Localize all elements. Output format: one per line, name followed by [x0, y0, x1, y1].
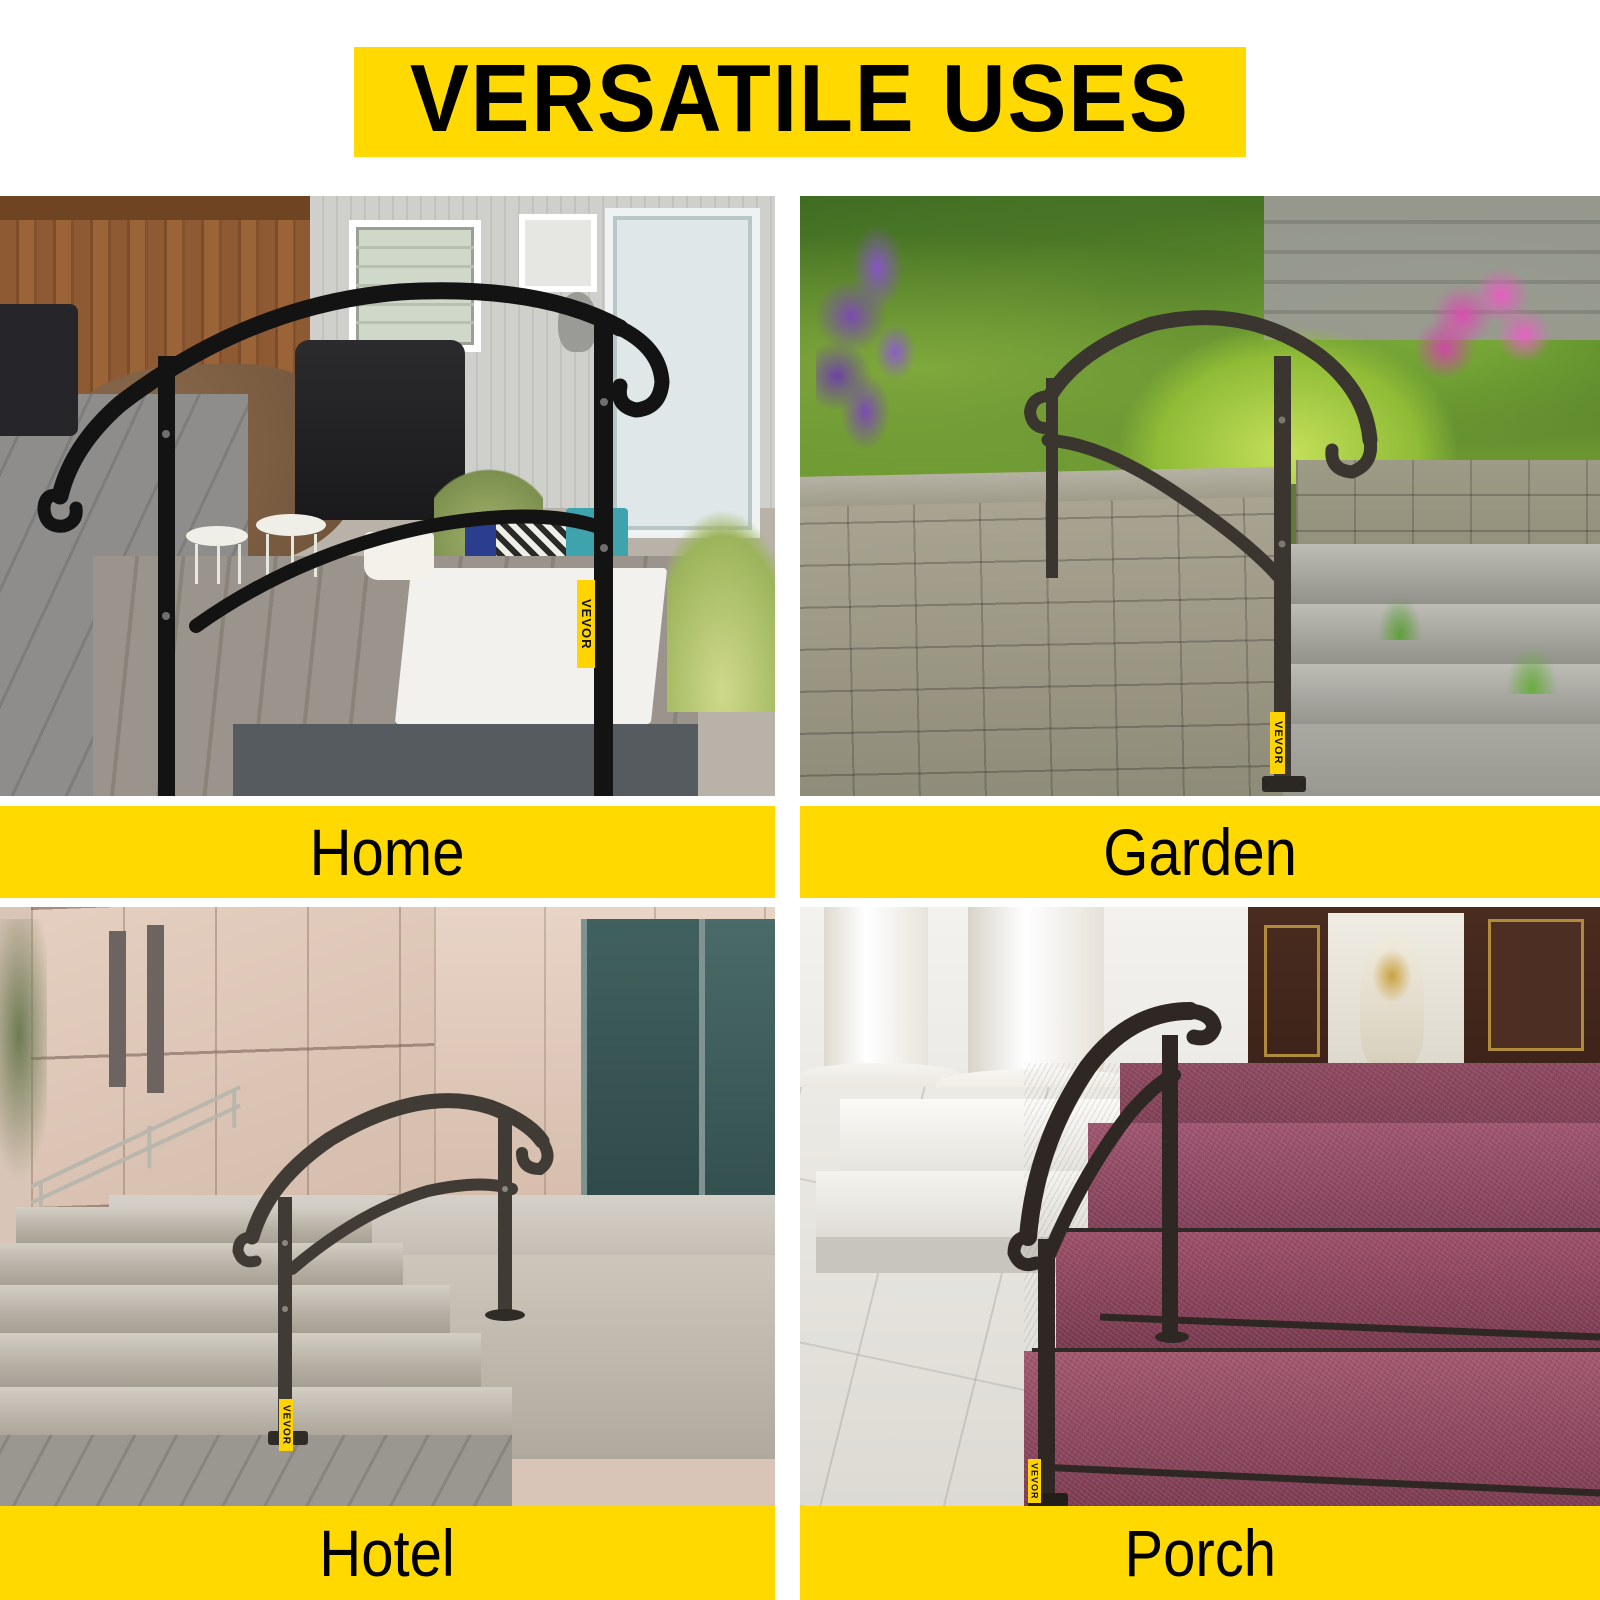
gutter-bottom: [775, 898, 800, 1600]
caption-hotel-label: Hotel: [320, 1520, 456, 1586]
carpet-texture: [1024, 1063, 1600, 1507]
door-gold-panel: [1488, 919, 1584, 1051]
stone-retaining-wall: [800, 497, 1283, 796]
panel-hotel: VEVOR Hotel: [0, 898, 775, 1600]
photo-home: VEVOR: [0, 196, 775, 796]
hotel-step: [0, 1333, 481, 1393]
caption-hotel: Hotel: [0, 1506, 775, 1600]
panel-home: VEVOR Home: [0, 196, 775, 898]
panel-porch: VEVOR Porch: [800, 898, 1600, 1600]
caption-home: Home: [0, 806, 775, 898]
ornamental-grass-right: [667, 508, 776, 712]
deck-riser: [233, 724, 698, 796]
facade-window-slot: [147, 925, 164, 1093]
caption-porch: Porch: [800, 1506, 1600, 1600]
door-gold-panel: [1264, 925, 1320, 1057]
title-banner: VERSATILE USES: [354, 47, 1246, 157]
hotel-glass-door-right: [705, 919, 775, 1201]
house-window-large: [349, 220, 481, 352]
page-title: VERSATILE USES: [410, 51, 1190, 147]
step-nosing: [1064, 1228, 1600, 1232]
purple-salvia-flowers: [816, 220, 992, 460]
grill-cover-left: [0, 304, 78, 436]
brick-pavement: [0, 1435, 512, 1507]
versatile-uses-poster: VERSATILE USES: [0, 0, 1600, 1600]
photo-porch: VEVOR: [800, 907, 1600, 1507]
stainless-guardrail: [31, 1075, 248, 1207]
white-door-mat: [395, 568, 667, 724]
house-glass-door: [605, 208, 760, 538]
caption-home-label: Home: [310, 819, 465, 885]
panel-grid: VEVOR Home: [0, 196, 1600, 1600]
wall-ornament: [558, 292, 597, 352]
house-window-small: [519, 214, 597, 292]
step-weed: [1376, 592, 1424, 640]
photo-garden: VEVOR: [800, 196, 1600, 796]
vevor-brand-sticker: VEVOR: [1270, 712, 1285, 774]
hotel-step: [0, 1285, 450, 1339]
title-area: VERSATILE USES: [0, 0, 1600, 196]
caption-porch-label: Porch: [1124, 1520, 1276, 1586]
urn-gold-detail: [1372, 949, 1412, 1003]
vevor-brand-sticker: VEVOR: [279, 1399, 293, 1451]
step-weed: [1504, 640, 1560, 694]
hotel-step: [0, 1243, 403, 1291]
metal-stool: [256, 514, 326, 580]
hotel-glass-door: [581, 919, 705, 1201]
metal-stool: [186, 526, 248, 586]
caption-garden: Garden: [800, 806, 1600, 898]
fence-cap: [0, 196, 357, 220]
step-nosing: [1032, 1348, 1600, 1352]
facade-window-slot: [109, 931, 126, 1087]
vevor-brand-sticker: VEVOR: [577, 580, 595, 668]
caption-garden-label: Garden: [1103, 819, 1297, 885]
panel-garden: VEVOR Garden: [800, 196, 1600, 898]
vevor-brand-sticker: VEVOR: [1028, 1459, 1041, 1503]
gutter-top: [775, 196, 800, 898]
decor-bowl: [364, 532, 434, 580]
photo-hotel: VEVOR: [0, 907, 775, 1507]
